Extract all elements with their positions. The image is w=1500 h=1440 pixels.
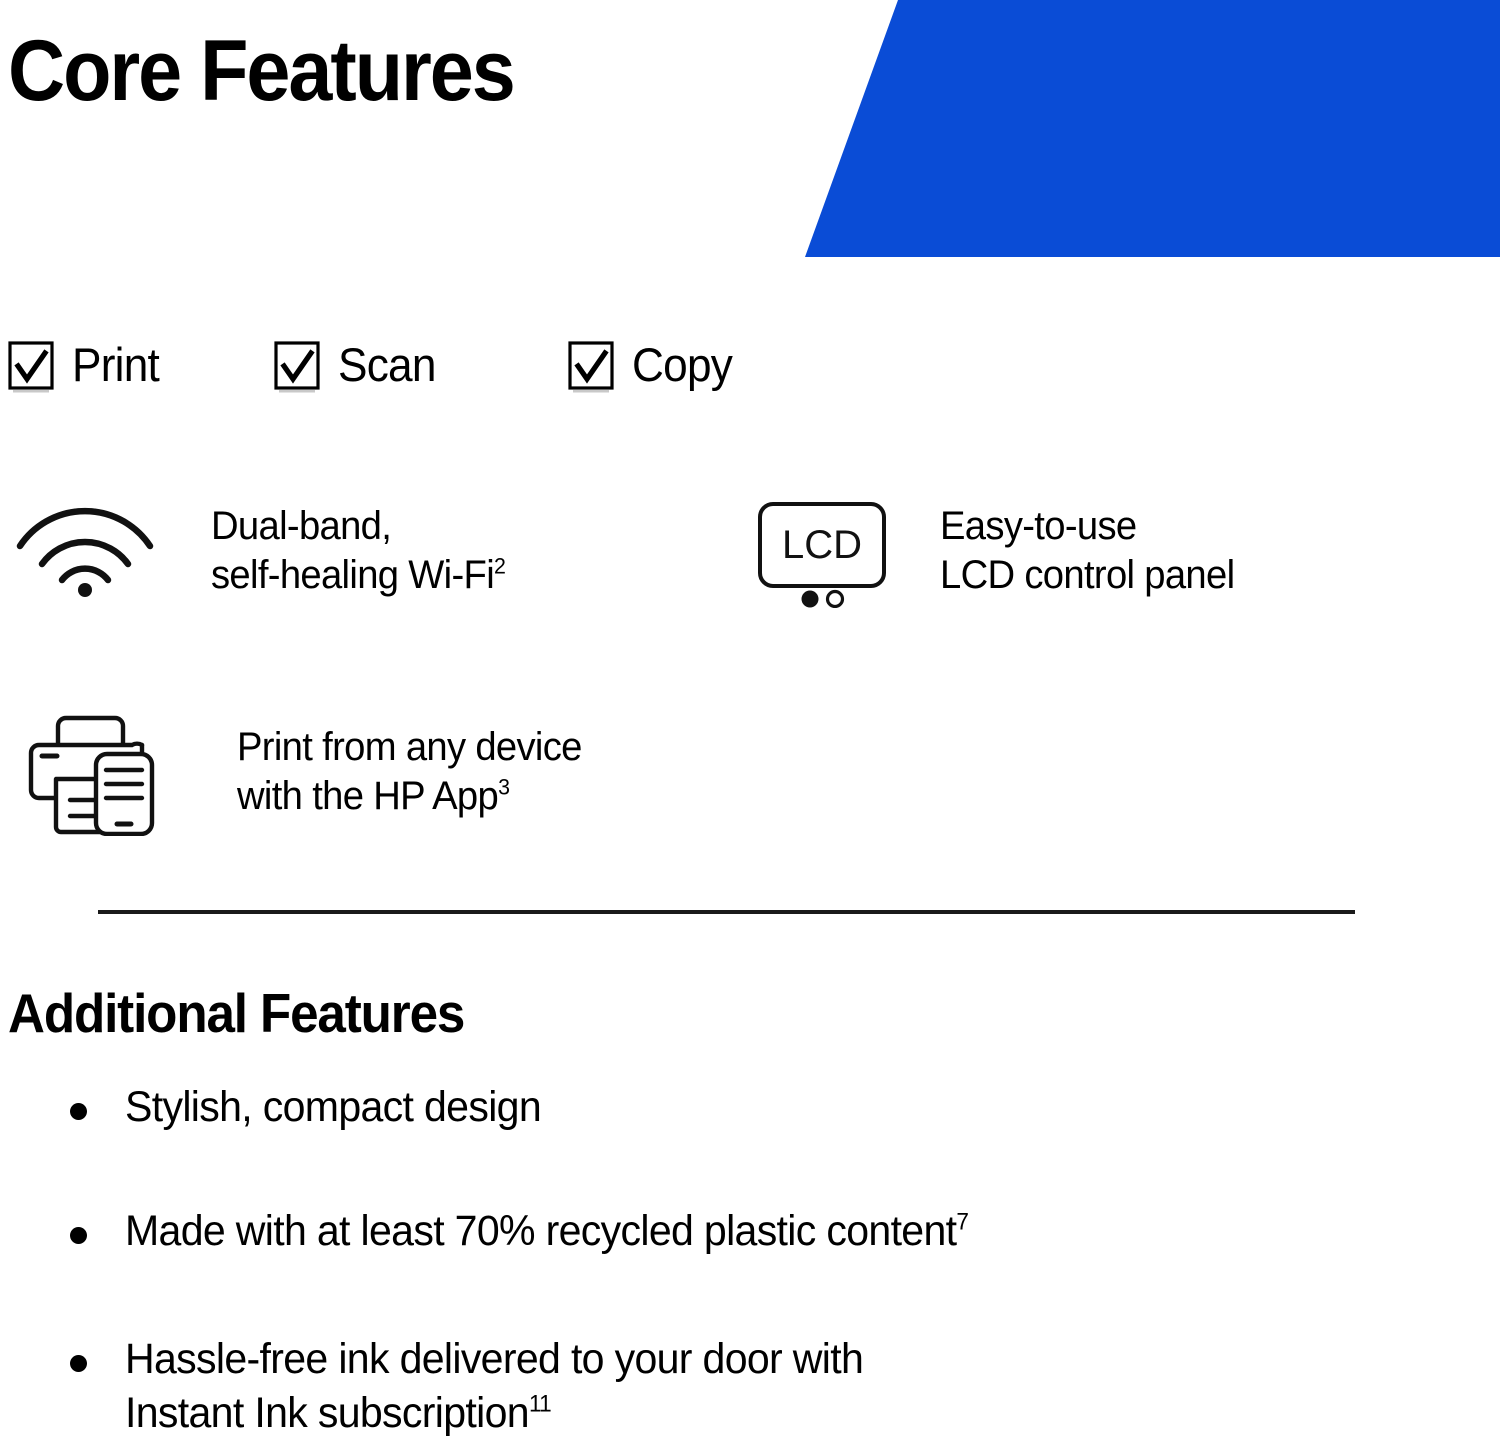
capability-label: Print [72, 338, 159, 391]
feature-hp-app-text: Print from any device with the HP App3 [237, 723, 582, 821]
bullet-line-2-text: Instant Ink subscription [125, 1389, 529, 1437]
feature-lcd: LCD Easy-to-use LCD control panel [757, 500, 1248, 608]
capability-scan: Scan [274, 338, 442, 406]
section-divider [98, 910, 1355, 914]
footnote-marker: 3 [498, 775, 509, 800]
printer-mobile-icon [28, 712, 160, 836]
list-item-text: Stylish, compact design [125, 1080, 541, 1134]
wifi-icon [14, 500, 156, 598]
bullet-line-1-text: Stylish, compact design [125, 1083, 541, 1131]
lcd-panel-icon: LCD [757, 500, 887, 608]
feature-line-2: LCD control panel [940, 551, 1234, 600]
feature-hp-app: Print from any device with the HP App3 [28, 712, 598, 836]
bullet-line-1-text: Made with at least 70% recycled plastic … [125, 1207, 956, 1255]
feature-line-1: Dual-band, [211, 502, 505, 551]
bullet-dot-icon [70, 1355, 87, 1372]
lcd-icon-label: LCD [782, 523, 862, 567]
feature-line-1: Easy-to-use [940, 502, 1234, 551]
list-item-text: Hassle-free ink delivered to your door w… [125, 1332, 863, 1440]
capability-copy: Copy [568, 338, 739, 406]
list-item: Hassle-free ink delivered to your door w… [0, 1332, 898, 1440]
capability-label: Scan [338, 338, 436, 391]
feature-wifi-text: Dual-band, self-healing Wi-Fi2 [211, 502, 505, 600]
capabilities-row: Print Scan Copy [0, 338, 1400, 408]
feature-line-2: with the HP App3 [237, 772, 582, 821]
footnote-marker: 2 [494, 554, 505, 579]
feature-line-2-text: with the HP App [237, 774, 498, 818]
footnote-marker: 11 [529, 1392, 551, 1418]
list-item: Made with at least 70% recycled plastic … [0, 1204, 1008, 1258]
feature-line-2: self-healing Wi-Fi2 [211, 551, 505, 600]
capability-label: Copy [632, 338, 732, 391]
bullet-dot-icon [70, 1103, 87, 1120]
bullet-dot-icon [70, 1227, 87, 1244]
feature-wifi: Dual-band, self-healing Wi-Fi2 [14, 500, 519, 600]
checkbox-checked-icon [568, 341, 614, 394]
feature-lcd-text: Easy-to-use LCD control panel [940, 502, 1234, 600]
bullet-line-1: Hassle-free ink delivered to your door w… [125, 1332, 863, 1386]
feature-line-1: Print from any device [237, 723, 582, 772]
bullet-line-1: Made with at least 70% recycled plastic … [125, 1204, 968, 1258]
page-title: Core Features [8, 28, 514, 114]
feature-line-2-text: self-healing Wi-Fi [211, 553, 494, 597]
bullet-line-2: Instant Ink subscription11 [125, 1386, 863, 1440]
feature-line-2-text: LCD control panel [940, 553, 1234, 597]
checkbox-checked-icon [274, 341, 320, 394]
footnote-marker: 7 [956, 1210, 968, 1236]
additional-features-title: Additional Features [8, 986, 464, 1041]
capability-print: Print [8, 338, 165, 406]
list-item: Stylish, compact design [0, 1080, 561, 1134]
checkbox-checked-icon [8, 341, 54, 394]
bullet-line-1: Stylish, compact design [125, 1080, 541, 1134]
list-item-text: Made with at least 70% recycled plastic … [125, 1204, 968, 1258]
